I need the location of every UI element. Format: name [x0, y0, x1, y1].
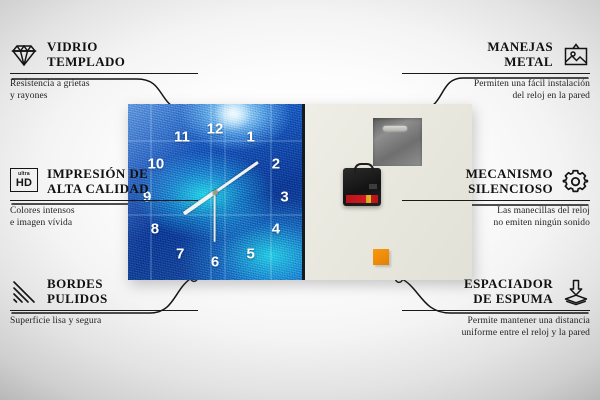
feature-subtitle: Superficie lisa y segura [10, 315, 198, 327]
clock-center-cap [213, 190, 218, 195]
feature-divider [10, 200, 198, 201]
feature-subtitle: Permiten una fácil instalación del reloj… [402, 78, 590, 102]
feature-divider [402, 200, 590, 201]
feature-header: MECANISMO SILENCIOSO [402, 167, 590, 197]
feature-subtitle: Colores intensos e imagen vívida [10, 205, 198, 229]
feature-metal-handles: MANEJAS METAL Permiten una fácil instala… [402, 40, 590, 102]
feature-subtitle: Permite mantener una distancia uniforme … [402, 315, 590, 339]
infographic-canvas: 12 1 2 3 4 5 6 7 8 9 10 11 [0, 0, 600, 400]
foam-spacer-pad [373, 249, 389, 265]
feature-title: IMPRESIÓN DE ALTA CALIDAD [47, 167, 149, 196]
feature-silent-mechanism: MECANISMO SILENCIOSO Las manecillas del … [402, 167, 590, 229]
feature-title: VIDRIO TEMPLADO [47, 40, 125, 69]
feature-title: MANEJAS METAL [487, 40, 553, 69]
hd-badge-ultra-text: ultra [18, 172, 30, 177]
ultra-hd-badge-icon: ultra HD [10, 168, 38, 196]
feature-tempered-glass: VIDRIO TEMPLADO Resistencia a grietas y … [10, 40, 198, 102]
gear-icon [562, 168, 590, 196]
hanger-slot [383, 126, 407, 131]
mechanism-label [346, 195, 378, 203]
clock-minute-hand [214, 161, 258, 193]
feature-subtitle: Las manecillas del reloj no emiten ningú… [402, 205, 590, 229]
feature-title: BORDES PULIDOS [47, 277, 108, 306]
feature-divider [402, 310, 590, 311]
mechanism-hanging-loop [354, 163, 374, 173]
feature-header: ultra HD IMPRESIÓN DE ALTA CALIDAD [10, 167, 198, 197]
metal-hanger-plate [373, 118, 422, 166]
clock-numeral-4: 4 [272, 221, 280, 236]
hd-badge-hd-text: HD [16, 178, 32, 189]
feature-polished-edges: BORDES PULIDOS Superficie lisa y segura [10, 277, 198, 327]
diagonal-stripes-icon [10, 278, 38, 306]
feature-divider [402, 73, 590, 74]
clock-mechanism-box [343, 168, 381, 206]
feature-title: MECANISMO SILENCIOSO [466, 167, 553, 196]
clock-second-hand [214, 192, 216, 242]
picture-frame-icon [562, 41, 590, 69]
clock-numeral-2: 2 [272, 156, 280, 171]
feature-header: ESPACIADOR DE ESPUMA [402, 277, 590, 307]
feature-foam-spacer: ESPACIADOR DE ESPUMA Permite mantener un… [402, 277, 590, 339]
feature-divider [10, 310, 198, 311]
down-arrow-layers-icon [562, 278, 590, 306]
feature-high-quality-print: ultra HD IMPRESIÓN DE ALTA CALIDAD Color… [10, 167, 198, 229]
clock-numeral-12: 12 [207, 121, 224, 136]
feature-header: VIDRIO TEMPLADO [10, 40, 198, 70]
feature-subtitle: Resistencia a grietas y rayones [10, 78, 198, 102]
mechanism-chip [369, 184, 377, 189]
clock-numeral-6: 6 [211, 255, 219, 270]
feature-header: MANEJAS METAL [402, 40, 590, 70]
clock-numeral-3: 3 [280, 190, 288, 205]
clock-numeral-1: 1 [246, 130, 254, 145]
feature-header: BORDES PULIDOS [10, 277, 198, 307]
hd-badge: ultra HD [10, 168, 38, 192]
clock-numeral-5: 5 [246, 246, 254, 261]
clock-numeral-11: 11 [174, 130, 190, 145]
clock-numeral-7: 7 [176, 246, 184, 261]
feature-title: ESPACIADOR DE ESPUMA [464, 277, 553, 306]
feature-divider [10, 73, 198, 74]
diamond-icon [10, 41, 38, 69]
